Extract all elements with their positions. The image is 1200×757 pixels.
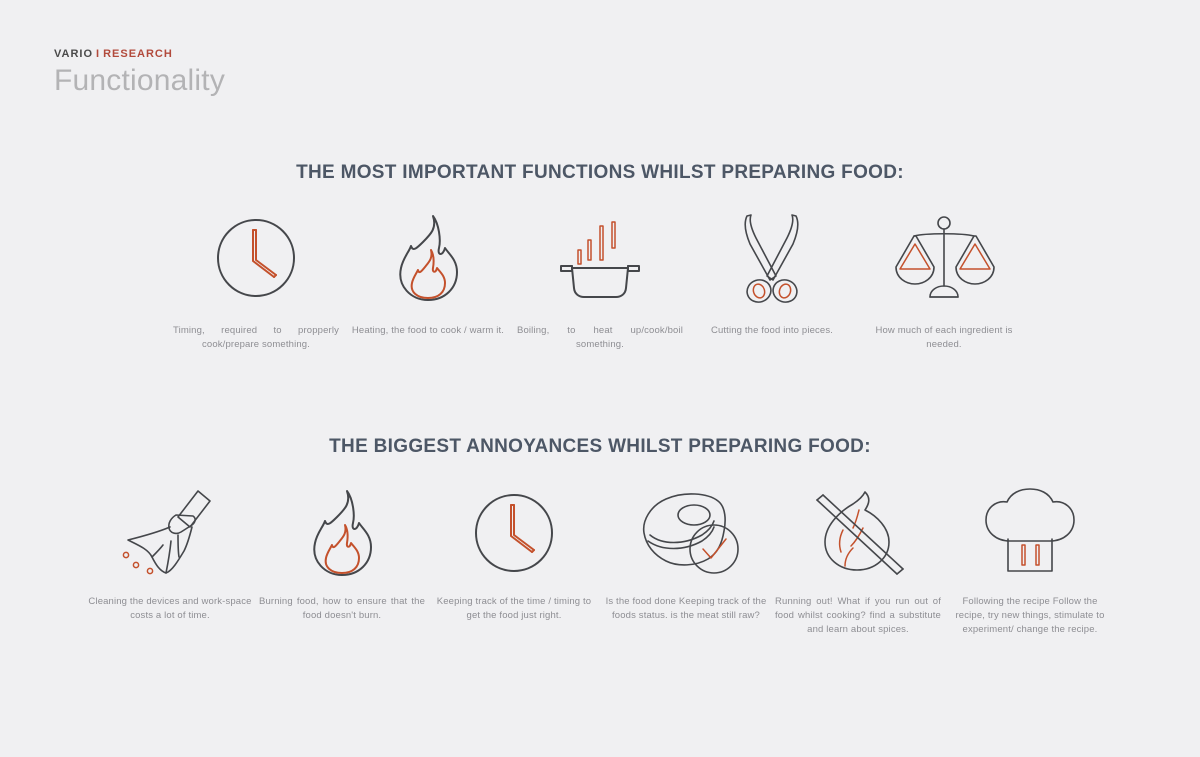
item-caption: Burning food, how to ensure that the foo… [257,595,427,623]
slide-header: VARIOIRESEARCH Functionality [54,48,225,99]
balance-scale-icon [884,205,1004,310]
list-item: How much of each ingredient is needed. [858,205,1030,352]
item-caption: Following the recipe Follow the recipe, … [945,595,1115,636]
list-item: Heating, the food to cook / warm it. [342,205,514,338]
breadcrumb: VARIOIRESEARCH [54,48,225,60]
annoyances-row: Cleaning the devices and work-space cost… [60,480,1140,636]
item-caption: Running out! What if you run out of food… [773,595,943,636]
boiling-pot-icon [540,205,660,310]
section-heading-functions: THE MOST IMPORTANT FUNCTIONS WHILST PREP… [0,162,1200,184]
list-item: Following the recipe Follow the recipe, … [944,480,1116,636]
page-title: Functionality [54,64,225,99]
steak-check-icon [626,480,746,585]
slide-canvas: VARIOIRESEARCH Functionality THE MOST IM… [0,0,1200,757]
brand-label: VARIO [54,48,93,60]
item-caption: Timing, required to propperly cook/prepa… [171,324,341,352]
no-food-icon [798,480,918,585]
clock-icon [196,205,316,310]
list-item: Is the food done Keeping track of the fo… [600,480,772,623]
list-item: Cleaning the devices and work-space cost… [84,480,256,623]
section-heading-annoyances: THE BIGGEST ANNOYANCES WHILST PREPARING … [0,436,1200,458]
item-caption: Keeping track of the time / timing to ge… [429,595,599,623]
item-caption: Cleaning the devices and work-space cost… [85,595,255,623]
category-label: RESEARCH [103,48,173,60]
clock-icon [454,480,574,585]
breadcrumb-separator: I [96,48,100,60]
list-item: Keeping track of the time / timing to ge… [428,480,600,623]
flame-icon [282,480,402,585]
item-caption: Heating, the food to cook / warm it. [343,324,513,338]
scissors-icon [712,205,832,310]
list-item: Burning food, how to ensure that the foo… [256,480,428,623]
list-item: Cutting the food into pieces. [686,205,858,338]
list-item: Boiling, to heat up/cook/boil something. [514,205,686,352]
broom-icon [110,480,230,585]
item-caption: Boiling, to heat up/cook/boil something. [515,324,685,352]
item-caption: How much of each ingredient is needed. [859,324,1029,352]
chef-hat-icon [970,480,1090,585]
flame-icon [368,205,488,310]
list-item: Timing, required to propperly cook/prepa… [170,205,342,352]
item-caption: Is the food done Keeping track of the fo… [601,595,771,623]
functions-row: Timing, required to propperly cook/prepa… [150,205,1050,352]
list-item: Running out! What if you run out of food… [772,480,944,636]
item-caption: Cutting the food into pieces. [687,324,857,338]
